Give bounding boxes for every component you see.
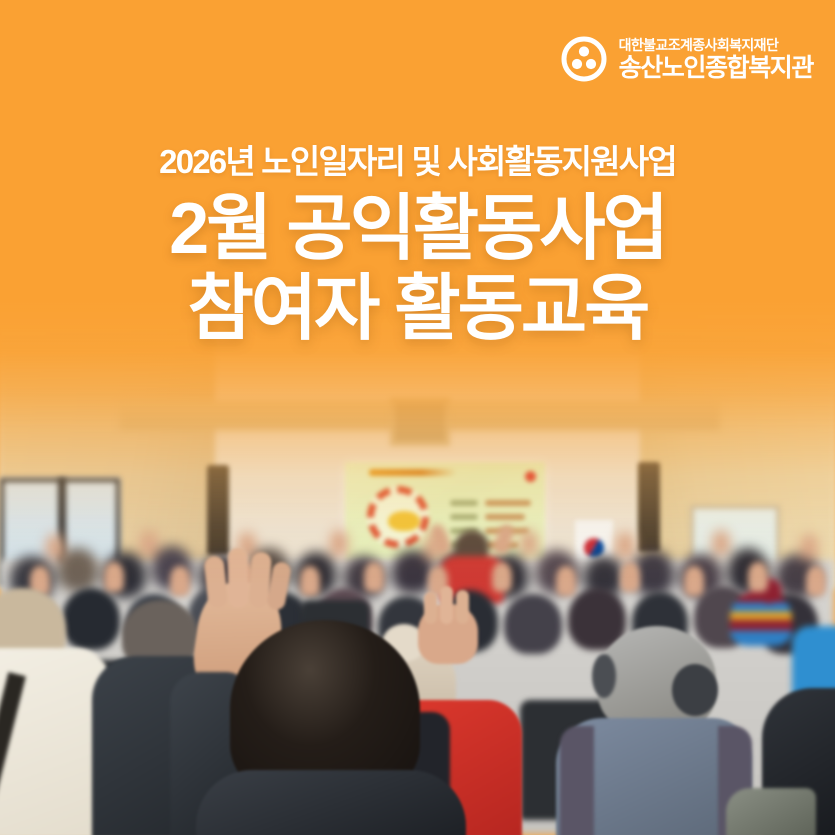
main-title-line-1: 2월 공익활동사업 xyxy=(0,190,835,269)
three-dot-circle-logo-icon xyxy=(561,36,607,82)
main-title-line-2: 참여자 활동교육 xyxy=(0,270,835,349)
foundation-name: 대한불교조계종사회복지재단 xyxy=(619,38,813,52)
logo-wordmark: 대한불교조계종사회복지재단 송산노인종합복지관 xyxy=(619,38,813,81)
center-name: 송산노인종합복지관 xyxy=(619,56,813,81)
title-block: 2026년 노인일자리 및 사회활동지원사업 2월 공익활동사업 참여자 활동교… xyxy=(0,143,835,349)
organization-logo: 대한불교조계종사회복지재단 송산노인종합복지관 xyxy=(561,36,813,82)
program-subtitle: 2026년 노인일자리 및 사회활동지원사업 xyxy=(0,143,835,181)
orange-gradient-overlay xyxy=(0,0,835,835)
poster-canvas: 대한불교조계종사회복지재단 송산노인종합복지관 2026년 노인일자리 및 사회… xyxy=(0,0,835,835)
